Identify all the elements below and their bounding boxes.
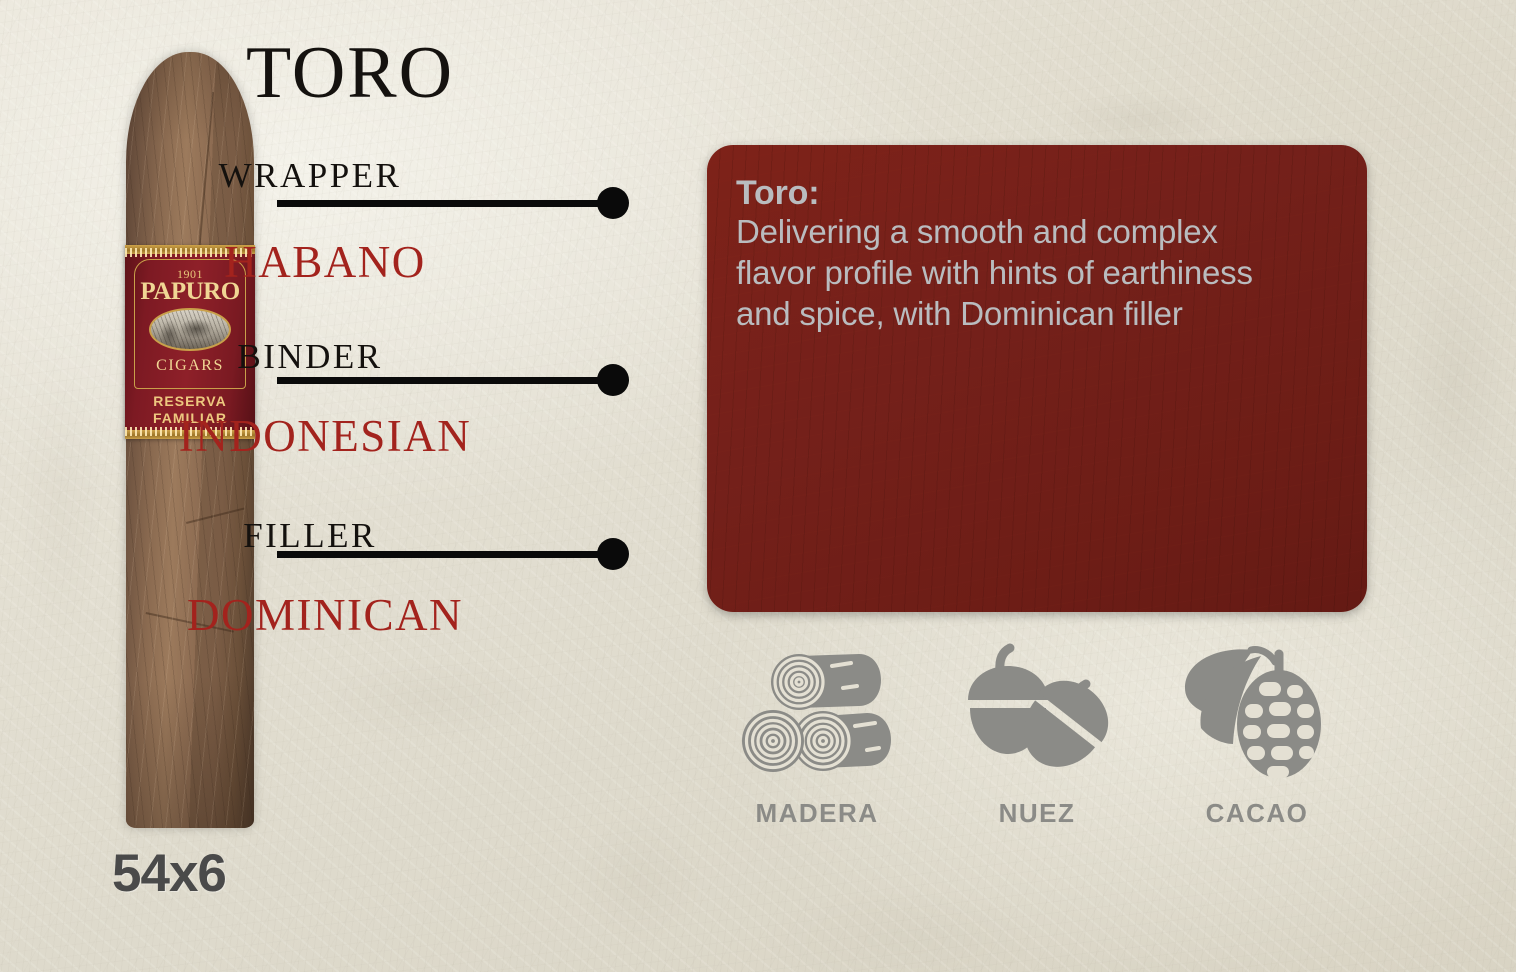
flavor-note-madera: MADERA <box>707 636 927 846</box>
description-body: Delivering a smooth and complex flavor p… <box>736 212 1296 335</box>
spec-value-filler: DOMINICAN <box>90 593 560 638</box>
spec-value-wrapper: HABANO <box>90 240 560 285</box>
spec-dot-binder <box>597 364 629 396</box>
spec-rule-binder <box>277 377 605 384</box>
page-title: TORO <box>246 36 454 110</box>
flavor-label-cacao: CACAO <box>1206 798 1309 829</box>
logs-icon <box>737 636 897 786</box>
description-panel: Toro: Delivering a smooth and complex fl… <box>707 145 1367 612</box>
spec-value-binder: INDONESIAN <box>90 414 560 459</box>
flavor-note-cacao: CACAO <box>1147 636 1367 846</box>
spec-label-binder: BINDER <box>110 339 510 374</box>
spec-dot-wrapper <box>597 187 629 219</box>
spec-rule-wrapper <box>277 200 605 207</box>
spec-label-filler: FILLER <box>110 518 510 553</box>
flavor-label-madera: MADERA <box>755 798 878 829</box>
description-heading: Toro: <box>736 174 1337 212</box>
flavor-label-nuez: NUEZ <box>999 798 1076 829</box>
spec-dot-filler <box>597 538 629 570</box>
spec-rule-filler <box>277 551 605 558</box>
cigar-size-label: 54x6 <box>112 843 226 904</box>
cigar-spec-card: 1901 PAPURO CIGARS RESERVA FAMILIAR 54x6… <box>0 0 1516 972</box>
band-series-line-1: RESERVA <box>153 393 226 409</box>
acorn-icon <box>957 636 1117 786</box>
flavor-notes-row: MADERA <box>707 636 1367 846</box>
flavor-note-nuez: NUEZ <box>927 636 1147 846</box>
spec-label-wrapper: WRAPPER <box>110 158 510 193</box>
cacao-pod-icon <box>1177 636 1337 786</box>
